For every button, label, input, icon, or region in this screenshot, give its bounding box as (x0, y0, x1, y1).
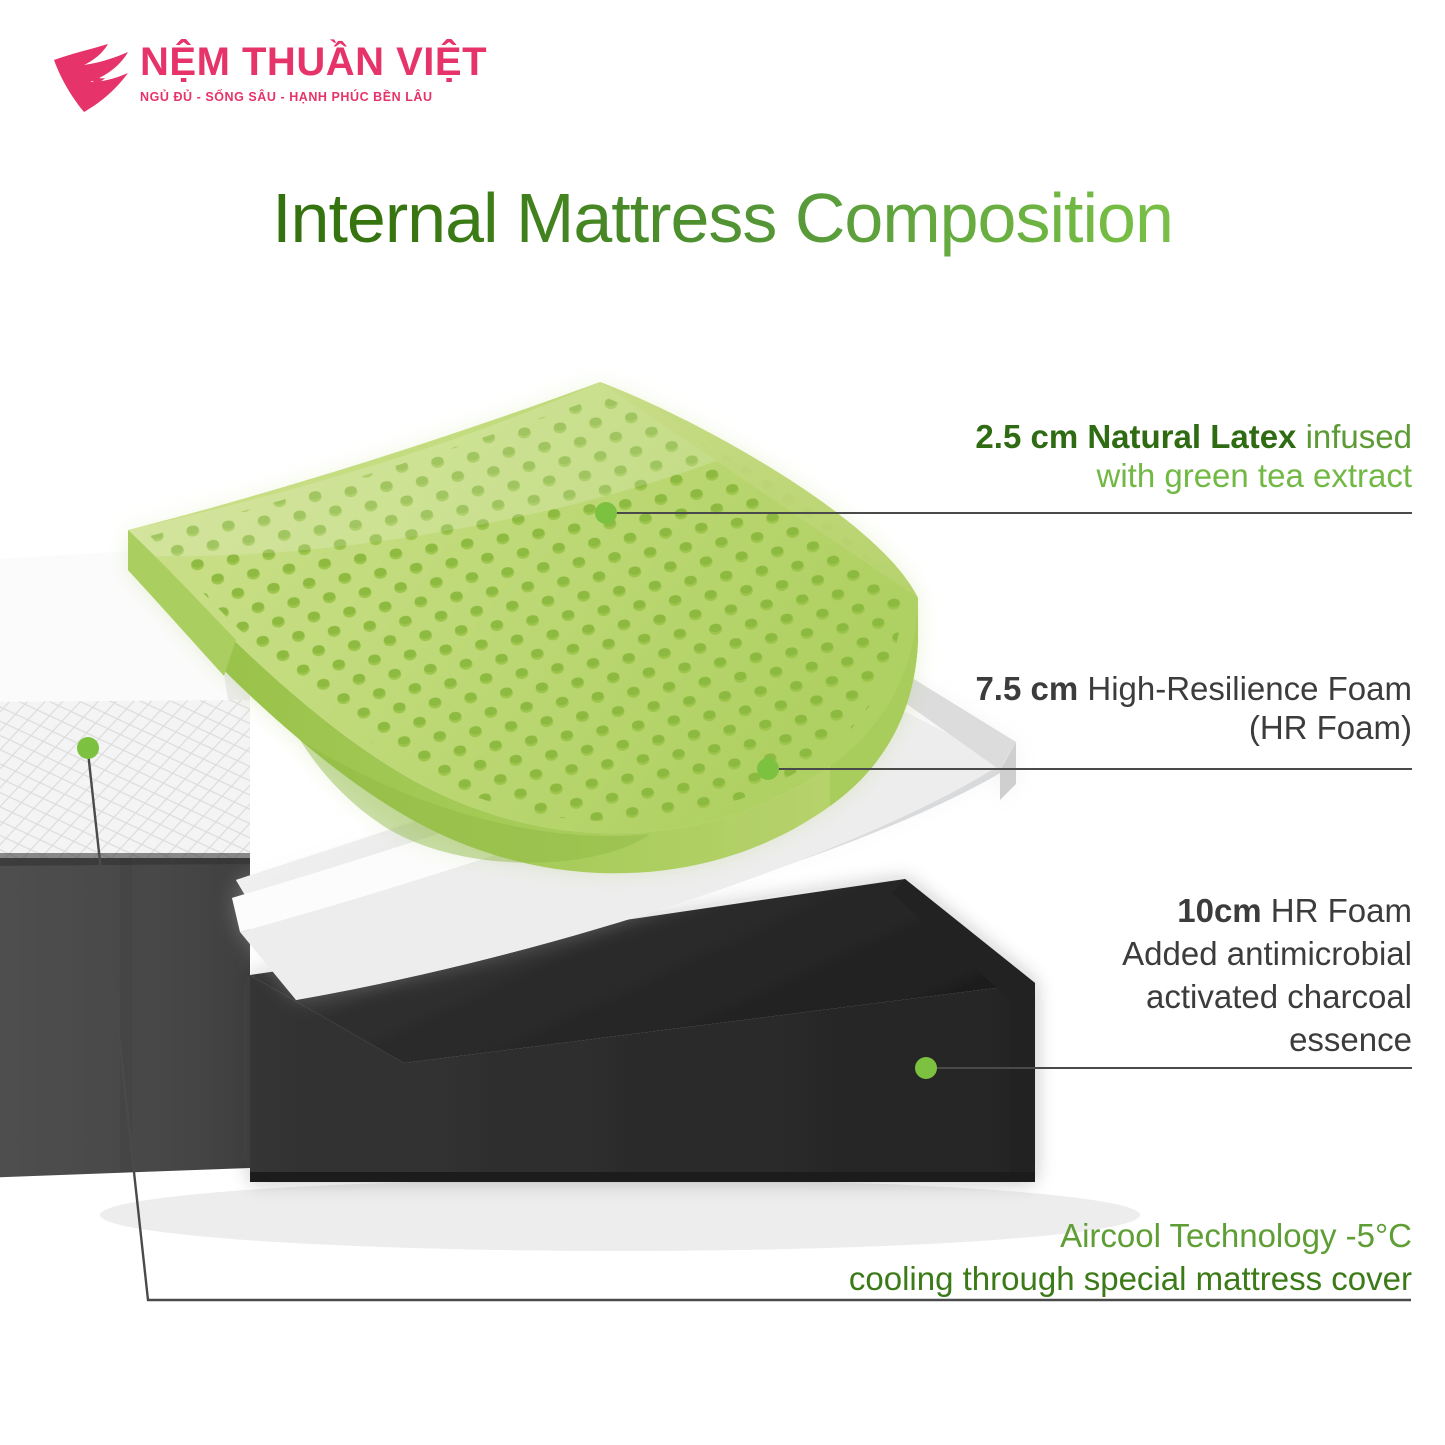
latex-line1-rest: infused (1296, 418, 1412, 455)
latex-line1-strong: 2.5 cm Natural Latex (975, 418, 1296, 455)
callout-label-charcoal: 10cm HR Foam Added antimicrobial activat… (1122, 890, 1412, 1062)
charcoal-line3: activated charcoal (1146, 978, 1412, 1015)
charcoal-line2: Added antimicrobial (1122, 935, 1412, 972)
callout-dot-latex[interactable] (595, 502, 617, 524)
callout-dot-aircool[interactable] (77, 737, 99, 759)
callout-label-hr-foam: 7.5 cm High-Resilience Foam (HR Foam) (975, 670, 1412, 748)
aircool-line1: Aircool Technology -5°C (1060, 1217, 1412, 1254)
aircool-line2: cooling through special mattress cover (849, 1260, 1412, 1297)
leader-line-latex (612, 512, 1412, 514)
callout-dot-hr-foam[interactable] (757, 758, 779, 780)
latex-line2: with green tea extract (1097, 457, 1413, 494)
leader-line-charcoal (935, 1067, 1412, 1069)
charcoal-line1-rest: HR Foam (1262, 892, 1412, 929)
mattress-side-panel (0, 853, 250, 1178)
leader-line-hr-foam (776, 768, 1412, 770)
callout-label-aircool: Aircool Technology -5°C cooling through … (849, 1215, 1412, 1301)
callout-label-latex: 2.5 cm Natural Latex infused with green … (975, 418, 1412, 496)
charcoal-line4: essence (1289, 1021, 1412, 1058)
hr-line2: (HR Foam) (1249, 709, 1412, 746)
callout-dot-charcoal[interactable] (915, 1057, 937, 1079)
charcoal-line1-strong: 10cm (1177, 892, 1261, 929)
hr-line1-rest: High-Resilience Foam (1078, 670, 1412, 707)
infographic-canvas: NỆM THUẦN VIỆT NGỦ ĐỦ - SỐNG SÂU - HẠNH … (0, 0, 1445, 1445)
hr-line1-strong: 7.5 cm (975, 670, 1078, 707)
